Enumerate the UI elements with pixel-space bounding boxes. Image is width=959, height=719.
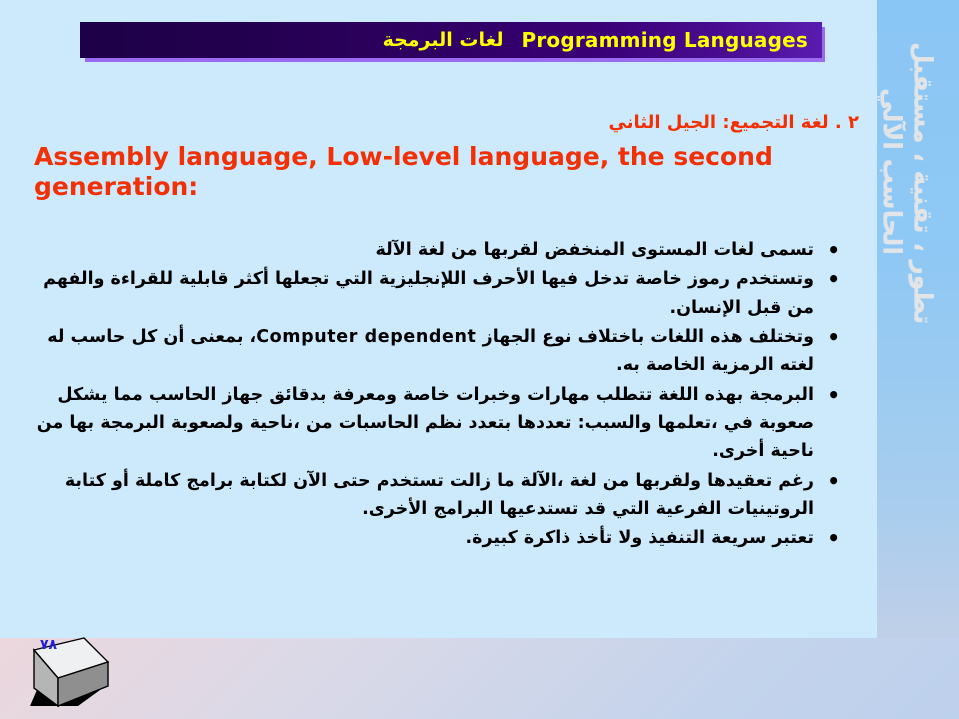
presentation-slide: تطور ، تقنية ، مستقبل الحاسب الآلي لغات … xyxy=(0,0,959,719)
sidebar-decorative-band: تطور ، تقنية ، مستقبل الحاسب الآلي xyxy=(877,0,959,638)
content-bullet-list: تسمى لغات المستوى المنخفض لقربها من لغة … xyxy=(30,236,840,554)
bullet-text: البرمجة بهذه اللغة تتطلب مهارات وخبرات خ… xyxy=(37,385,814,462)
bullet-text: تسمى لغات المستوى المنخفض لقربها من لغة … xyxy=(376,240,814,260)
bullet-item: تعتبر سريعة التنفيذ ولا تأخذ ذاكرة كبيرة… xyxy=(30,524,840,552)
bullet-item: وتختلف هذه اللغات باختلاف نوع الجهاز Com… xyxy=(30,323,840,380)
slide-title-bar: لغات البرمجة Programming Languages xyxy=(80,22,822,58)
bullet-text: وتستخدم رموز خاصة تدخل فيها الأحرف اللإن… xyxy=(43,269,814,317)
bullet-text-before: وتختلف هذه اللغات باختلاف نوع الجهاز xyxy=(477,327,814,347)
bullet-item: تسمى لغات المستوى المنخفض لقربها من لغة … xyxy=(30,236,840,264)
sidebar-label-secondary: الحاسب الآلي xyxy=(878,88,907,255)
bullet-item: رغم تعقيدها ولقربها من لغة ،الآلة ما زال… xyxy=(30,467,840,524)
slide-number: ٧٨ xyxy=(40,637,57,653)
bullet-text: رغم تعقيدها ولقربها من لغة ،الآلة ما زال… xyxy=(65,471,814,519)
section-heading-english: Assembly language, Low-level language, t… xyxy=(34,142,774,201)
title-english: Programming Languages xyxy=(521,28,808,52)
keyboard-key-icon xyxy=(8,628,140,716)
sidebar-text-container: تطور ، تقنية ، مستقبل الحاسب الآلي xyxy=(877,0,959,638)
bullet-text-latin-term: Computer dependent xyxy=(256,327,476,347)
title-arabic: لغات البرمجة xyxy=(383,29,504,51)
bullet-text: تعتبر سريعة التنفيذ ولا تأخذ ذاكرة كبيرة… xyxy=(465,528,814,548)
title-bar-inner: لغات البرمجة Programming Languages xyxy=(365,28,808,52)
section-heading-arabic: ٢ . لغة التجميع: الجيل الثاني xyxy=(99,112,859,133)
bullet-item: وتستخدم رموز خاصة تدخل فيها الأحرف اللإن… xyxy=(30,265,840,322)
bullet-item: البرمجة بهذه اللغة تتطلب مهارات وخبرات خ… xyxy=(30,381,840,466)
sidebar-label-primary: تطور ، تقنية ، مستقبل xyxy=(909,42,938,324)
